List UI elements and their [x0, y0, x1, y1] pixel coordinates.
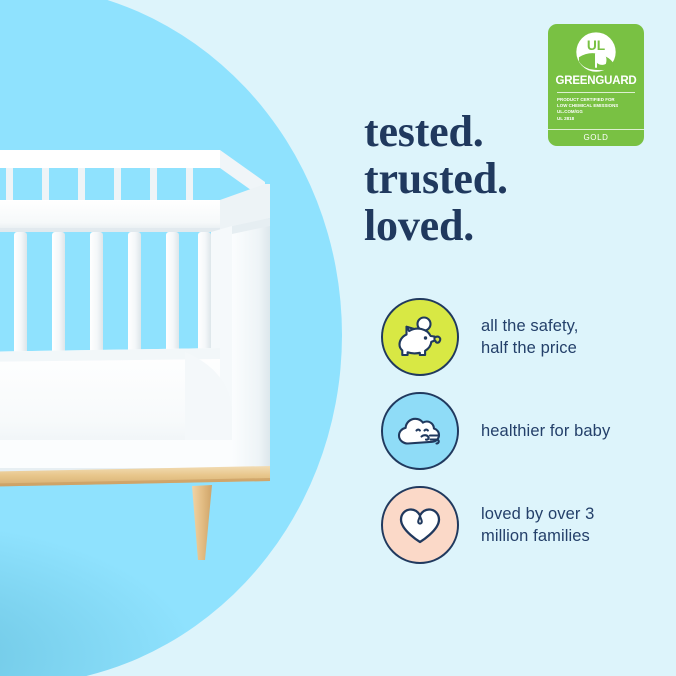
feature-item-safety-price: all the safety, half the price	[381, 290, 661, 384]
feature-line-1: all the safety,	[481, 315, 579, 337]
feature-list: all the safety, half the price healthier…	[381, 290, 661, 572]
headline-line-1: tested.	[364, 108, 508, 155]
feature-line-2: million families	[481, 525, 594, 547]
feature-item-healthier: healthier for baby	[381, 384, 661, 478]
heart-icon	[381, 486, 459, 564]
cloud-blowing-icon	[381, 392, 459, 470]
feature-text-loved: loved by over 3 million families	[481, 503, 594, 547]
promo-graphic: UL GREENGUARD PRODUCT CERTIFIED FOR LOW …	[0, 0, 676, 676]
badge-fine-print: PRODUCT CERTIFIED FOR LOW CHEMICAL EMISS…	[555, 97, 637, 122]
feature-line-1: loved by over 3	[481, 503, 594, 525]
headline-line-2: trusted.	[364, 155, 508, 202]
feature-item-loved: loved by over 3 million families	[381, 478, 661, 572]
feature-text-healthier: healthier for baby	[481, 420, 610, 442]
fine-print-line-4: UL 2818	[557, 116, 637, 122]
page-title: tested. trusted. loved.	[364, 108, 508, 249]
feature-line-2: half the price	[481, 337, 579, 359]
piggy-bank-icon	[381, 298, 459, 376]
headline-line-3: loved.	[364, 202, 508, 249]
badge-level-label: GOLD	[548, 133, 644, 142]
ul-greenguard-icon: UL	[575, 31, 617, 73]
badge-level-bar: GOLD	[548, 129, 644, 146]
feature-text-safety-price: all the safety, half the price	[481, 315, 579, 359]
greenguard-certification-badge: UL GREENGUARD PRODUCT CERTIFIED FOR LOW …	[548, 24, 644, 146]
crib-product-image	[0, 140, 300, 560]
greenguard-title: GREENGUARD	[555, 75, 637, 88]
svg-text:UL: UL	[587, 38, 605, 53]
badge-divider	[557, 92, 635, 93]
feature-line-1: healthier for baby	[481, 420, 610, 442]
